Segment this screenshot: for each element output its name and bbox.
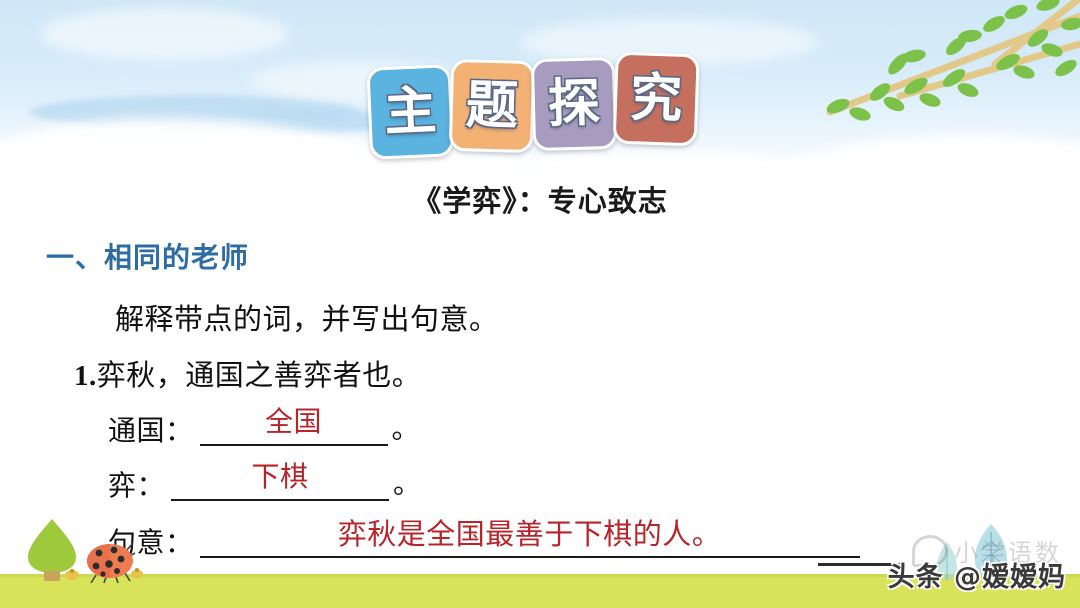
cloud-icon [40,8,290,60]
answer-value: 下棋 [252,463,309,492]
title-tile-char: 主 [383,85,437,139]
title-tile-4: 究 [613,52,700,147]
question-line: 1.弈秋，通国之善弈者也。 [74,352,421,394]
title-tile-1: 主 [366,64,454,160]
slide-canvas: 主 题 探 究 《学弈》：专心致志 一、相同的老师 解释带点的词，并写出句意。 … [0,0,1080,608]
answer-value: 弈秋是全国最善于下棋的人。 [338,520,722,550]
watermark-faint-text: 小学语数 [954,539,1062,567]
small-bug-icon [128,564,146,582]
grass-strip [0,577,1080,608]
title-tile-char: 究 [629,72,683,126]
plant-icon [974,522,1008,582]
title-tile-char: 题 [465,79,518,132]
small-bug-icon [62,565,82,583]
answer-blank[interactable]: 下棋 [171,463,389,501]
title-tile-char: 探 [547,77,600,130]
answer-row: 句意： 弈秋是全国最善于下棋的人。 [108,520,864,558]
answer-blank[interactable]: 全国 [200,408,388,446]
answer-label: 弈： [108,473,165,501]
tree-branch-icon [780,0,1080,124]
slide-subtitle: 《学弈》：专心致志 [0,178,1080,220]
slide-title: 主 题 探 究 [368,58,696,150]
question-text: 弈秋，通国之善弈者也。 [97,360,422,392]
answer-row: 弈： 下棋 。 [108,463,421,501]
answer-tail: 。 [393,471,421,501]
title-tile-3: 探 [531,57,617,151]
answer-value: 全国 [265,408,322,437]
answer-row: 通国： 全国 。 [108,408,420,446]
instruction-text: 解释带点的词，并写出句意。 [115,296,499,338]
answer-blank[interactable]: 弈秋是全国最善于下棋的人。 [200,520,860,558]
plant-icon [936,540,958,582]
question-number: 1. [74,360,97,392]
section-heading: 一、相同的老师 [46,236,249,276]
answer-tail: 。 [392,416,420,446]
title-tile-2: 题 [449,59,535,153]
answer-label: 通国： [108,418,194,446]
watermark-rule [818,563,904,566]
